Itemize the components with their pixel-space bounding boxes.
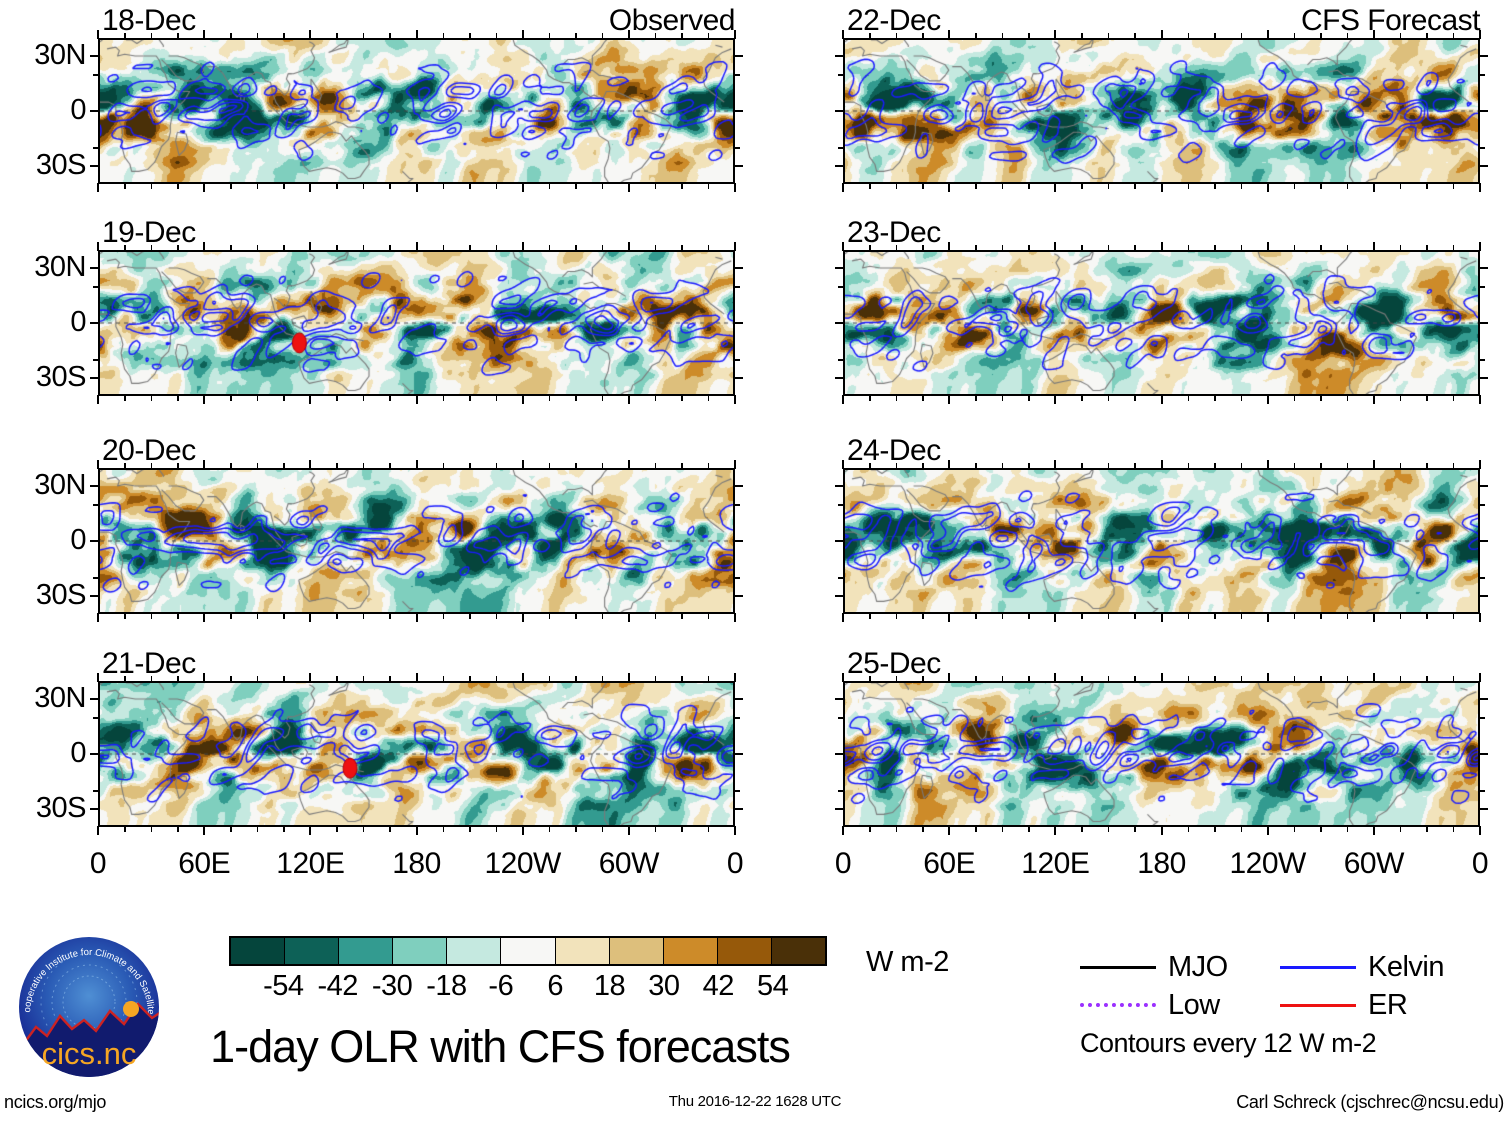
x-tick-minor [336, 33, 338, 39]
x-tick-minor [151, 826, 153, 832]
x-tick-minor [1294, 463, 1296, 469]
x-tick-minor [1294, 826, 1296, 832]
x-tick-minor [896, 33, 898, 39]
x-tick-minor [124, 613, 126, 619]
x-axis-label-0: 0 [783, 849, 903, 879]
x-tick-minor [1241, 613, 1243, 619]
x-tick-minor [549, 33, 551, 39]
panel-date-label: 20-Dec [102, 436, 196, 466]
colorbar-swatch-9 [718, 938, 772, 964]
x-tick-minor [602, 245, 604, 251]
x-tick-major [416, 30, 418, 39]
x-tick-minor [230, 245, 232, 251]
x-tick-major [416, 673, 418, 682]
x-tick-major [203, 242, 205, 251]
y-tick-minor [1479, 359, 1485, 361]
x-tick-minor [1108, 33, 1110, 39]
x-tick-major [1373, 673, 1375, 682]
x-tick-major [1479, 30, 1481, 39]
x-tick-major [1054, 395, 1056, 404]
x-tick-minor [1188, 245, 1190, 251]
x-tick-major [1161, 613, 1163, 622]
x-tick-minor [1453, 613, 1455, 619]
y-tick-major [835, 485, 844, 487]
x-tick-minor [283, 613, 285, 619]
x-tick-major [734, 826, 736, 835]
y-tick-major [1479, 377, 1488, 379]
colorbar-swatch-6 [556, 938, 610, 964]
x-tick-minor [496, 33, 498, 39]
colorbar-swatch-7 [610, 938, 664, 964]
x-tick-minor [1214, 183, 1216, 189]
y-tick-major [1479, 540, 1488, 542]
y-tick-major [90, 808, 99, 810]
map-canvas-19-dec [98, 250, 735, 396]
x-tick-minor [389, 245, 391, 251]
x-tick-minor [1241, 463, 1243, 469]
colorbar-swatch-2 [339, 938, 393, 964]
x-tick-minor [922, 463, 924, 469]
x-tick-minor [389, 463, 391, 469]
x-tick-minor [1134, 826, 1136, 832]
x-tick-minor [1400, 33, 1402, 39]
x-tick-major [734, 395, 736, 404]
x-tick-minor [1426, 183, 1428, 189]
x-tick-minor [443, 183, 445, 189]
x-tick-minor [681, 613, 683, 619]
x-tick-minor [922, 826, 924, 832]
x-tick-major [1161, 30, 1163, 39]
x-tick-major [97, 395, 99, 404]
y-tick-minor [734, 577, 740, 579]
x-axis-label-120w: 120W [463, 849, 583, 879]
x-tick-minor [869, 183, 871, 189]
x-tick-minor [549, 826, 551, 832]
x-tick-major [842, 613, 844, 622]
y-tick-major [1479, 110, 1488, 112]
x-tick-major [628, 673, 630, 682]
x-tick-minor [1108, 826, 1110, 832]
x-tick-major [734, 30, 736, 39]
y-tick-minor [734, 74, 740, 76]
x-tick-major [734, 460, 736, 469]
x-tick-minor [655, 245, 657, 251]
x-tick-minor [655, 613, 657, 619]
x-tick-major [1054, 613, 1056, 622]
x-tick-minor [869, 463, 871, 469]
x-tick-minor [1081, 613, 1083, 619]
x-tick-minor [1214, 395, 1216, 401]
x-tick-minor [655, 395, 657, 401]
x-tick-major [1054, 460, 1056, 469]
y-axis-label-30n: 30N [0, 41, 86, 70]
x-tick-major [1267, 673, 1269, 682]
x-tick-minor [602, 676, 604, 682]
map-canvas-25-dec [843, 681, 1480, 827]
cics-nc-logo: Cooperative Institute for Climate and Sa… [14, 932, 164, 1082]
y-tick-major [90, 377, 99, 379]
x-axis-label-60e: 60E [889, 849, 1009, 879]
x-tick-minor [124, 826, 126, 832]
x-tick-minor [869, 826, 871, 832]
x-tick-minor [336, 463, 338, 469]
x-tick-major [97, 613, 99, 622]
x-tick-minor [1108, 245, 1110, 251]
x-tick-minor [151, 33, 153, 39]
legend-swatch-kelvin [1280, 966, 1356, 969]
x-tick-major [734, 183, 736, 192]
legend-label-mjo: MJO [1168, 953, 1228, 982]
x-tick-major [948, 613, 950, 622]
x-tick-minor [575, 395, 577, 401]
x-tick-minor [602, 613, 604, 619]
legend-label-kelvin: Kelvin [1368, 953, 1444, 982]
colorbar-swatch-0 [231, 938, 285, 964]
x-tick-minor [681, 183, 683, 189]
y-tick-minor [1479, 74, 1485, 76]
x-tick-minor [1002, 395, 1004, 401]
y-tick-major [835, 595, 844, 597]
x-tick-minor [575, 33, 577, 39]
x-tick-minor [1294, 33, 1296, 39]
x-tick-minor [363, 463, 365, 469]
x-tick-major [734, 242, 736, 251]
x-tick-minor [1320, 395, 1322, 401]
x-tick-minor [1028, 245, 1030, 251]
x-tick-major [1479, 673, 1481, 682]
x-tick-major [1267, 30, 1269, 39]
x-tick-minor [336, 613, 338, 619]
x-tick-major [203, 460, 205, 469]
x-tick-minor [1347, 613, 1349, 619]
x-tick-major [1054, 242, 1056, 251]
x-tick-major [734, 613, 736, 622]
footer-author: Carl Schreck (cjschrec@ncsu.edu) [1236, 1092, 1504, 1112]
x-tick-minor [336, 183, 338, 189]
y-tick-major [1479, 267, 1488, 269]
y-tick-major [835, 267, 844, 269]
y-axis-label-30s: 30S [0, 794, 86, 823]
x-tick-minor [151, 613, 153, 619]
x-tick-major [628, 242, 630, 251]
y-tick-minor [93, 717, 99, 719]
x-tick-major [1267, 242, 1269, 251]
y-tick-major [734, 165, 743, 167]
x-tick-major [948, 395, 950, 404]
x-tick-minor [389, 613, 391, 619]
x-tick-minor [1294, 245, 1296, 251]
x-tick-minor [975, 33, 977, 39]
x-tick-minor [230, 33, 232, 39]
y-tick-minor [93, 577, 99, 579]
x-tick-minor [1426, 463, 1428, 469]
y-tick-minor [93, 286, 99, 288]
y-axis-label-30s: 30S [0, 151, 86, 180]
x-tick-minor [389, 33, 391, 39]
x-tick-minor [575, 676, 577, 682]
x-tick-minor [1347, 33, 1349, 39]
svg-text:cics.nc: cics.nc [42, 1036, 137, 1071]
x-tick-major [1373, 395, 1375, 404]
x-tick-minor [363, 676, 365, 682]
colorbar [229, 936, 827, 966]
x-tick-minor [975, 676, 977, 682]
x-tick-minor [655, 463, 657, 469]
x-tick-major [628, 826, 630, 835]
y-tick-major [90, 55, 99, 57]
x-tick-minor [1028, 33, 1030, 39]
x-tick-minor [1028, 826, 1030, 832]
x-tick-minor [602, 33, 604, 39]
x-tick-minor [124, 395, 126, 401]
x-tick-minor [1028, 613, 1030, 619]
x-axis-label-180: 180 [1102, 849, 1222, 879]
x-tick-minor [1108, 395, 1110, 401]
x-axis-label-0: 0 [675, 849, 795, 879]
x-tick-major [948, 460, 950, 469]
map-canvas-23-dec [843, 250, 1480, 396]
x-tick-minor [283, 463, 285, 469]
colorbar-swatch-5 [501, 938, 555, 964]
x-tick-minor [1081, 395, 1083, 401]
y-tick-major [1479, 322, 1488, 324]
x-tick-major [522, 826, 524, 835]
y-tick-minor [838, 359, 844, 361]
colorbar-swatch-10 [772, 938, 825, 964]
x-tick-major [522, 242, 524, 251]
x-tick-minor [124, 463, 126, 469]
x-tick-minor [257, 395, 259, 401]
x-tick-minor [1241, 183, 1243, 189]
x-axis-label-0: 0 [38, 849, 158, 879]
y-tick-major [835, 808, 844, 810]
x-tick-major [842, 460, 844, 469]
y-tick-minor [838, 577, 844, 579]
x-tick-minor [975, 613, 977, 619]
x-tick-major [203, 826, 205, 835]
x-tick-major [842, 30, 844, 39]
x-tick-major [628, 30, 630, 39]
x-tick-minor [1134, 463, 1136, 469]
x-tick-minor [230, 395, 232, 401]
x-tick-minor [1081, 826, 1083, 832]
x-tick-major [1054, 673, 1056, 682]
x-tick-minor [681, 463, 683, 469]
panel-date-label: 19-Dec [102, 218, 196, 248]
x-tick-minor [975, 395, 977, 401]
y-tick-minor [1479, 147, 1485, 149]
y-tick-minor [93, 504, 99, 506]
x-tick-minor [1347, 183, 1349, 189]
legend-item-kelvin: Kelvin [1280, 953, 1480, 982]
x-tick-minor [469, 183, 471, 189]
x-tick-major [1479, 395, 1481, 404]
x-axis-label-120e: 120E [250, 849, 370, 879]
x-tick-minor [230, 613, 232, 619]
x-tick-major [628, 613, 630, 622]
y-axis-label-30n: 30N [0, 471, 86, 500]
x-tick-minor [1188, 395, 1190, 401]
y-tick-major [90, 753, 99, 755]
y-tick-major [734, 110, 743, 112]
x-tick-major [416, 242, 418, 251]
x-tick-minor [1188, 826, 1190, 832]
x-tick-minor [1028, 676, 1030, 682]
y-tick-major [90, 595, 99, 597]
x-tick-minor [975, 463, 977, 469]
x-tick-major [842, 183, 844, 192]
x-axis-label-180: 180 [357, 849, 477, 879]
x-tick-major [522, 30, 524, 39]
x-tick-minor [1081, 463, 1083, 469]
x-tick-major [97, 30, 99, 39]
x-tick-minor [257, 33, 259, 39]
x-tick-minor [1453, 826, 1455, 832]
y-tick-minor [93, 74, 99, 76]
x-tick-major [1161, 826, 1163, 835]
y-tick-major [835, 377, 844, 379]
x-tick-minor [869, 613, 871, 619]
x-tick-minor [681, 245, 683, 251]
x-tick-minor [443, 826, 445, 832]
x-tick-minor [1400, 613, 1402, 619]
y-tick-major [734, 485, 743, 487]
x-tick-minor [443, 463, 445, 469]
x-tick-major [1267, 613, 1269, 622]
x-tick-major [416, 460, 418, 469]
x-tick-major [1479, 826, 1481, 835]
map-canvas-18-dec [98, 38, 735, 184]
x-tick-minor [975, 826, 977, 832]
x-tick-minor [1188, 613, 1190, 619]
x-tick-minor [336, 245, 338, 251]
x-tick-minor [1002, 183, 1004, 189]
x-tick-minor [1188, 33, 1190, 39]
x-tick-minor [549, 183, 551, 189]
x-tick-major [309, 826, 311, 835]
y-tick-minor [1479, 717, 1485, 719]
x-tick-minor [177, 183, 179, 189]
x-tick-minor [1426, 245, 1428, 251]
y-axis-label-0: 0 [0, 308, 86, 337]
x-tick-minor [443, 33, 445, 39]
x-tick-minor [1081, 676, 1083, 682]
x-tick-minor [975, 183, 977, 189]
x-tick-major [309, 183, 311, 192]
x-tick-major [1479, 613, 1481, 622]
y-tick-major [835, 540, 844, 542]
x-tick-major [97, 826, 99, 835]
x-tick-minor [1400, 245, 1402, 251]
x-tick-major [309, 460, 311, 469]
x-tick-minor [1002, 463, 1004, 469]
x-tick-minor [896, 183, 898, 189]
x-tick-minor [151, 395, 153, 401]
x-tick-minor [257, 826, 259, 832]
x-tick-minor [177, 33, 179, 39]
x-tick-major [1267, 183, 1269, 192]
x-tick-minor [708, 245, 710, 251]
x-tick-minor [602, 395, 604, 401]
x-tick-major [1267, 460, 1269, 469]
colorbar-tick-54: 54 [733, 972, 813, 1001]
x-tick-minor [1134, 183, 1136, 189]
x-tick-major [1267, 826, 1269, 835]
legend-item-low: Low [1080, 991, 1280, 1020]
x-tick-minor [708, 183, 710, 189]
x-tick-minor [1188, 676, 1190, 682]
x-tick-minor [1028, 395, 1030, 401]
x-tick-major [97, 242, 99, 251]
legend-swatch-mjo [1080, 966, 1156, 969]
x-tick-major [309, 673, 311, 682]
x-axis-label-60w: 60W [1314, 849, 1434, 879]
x-tick-minor [124, 676, 126, 682]
x-tick-minor [363, 33, 365, 39]
x-tick-minor [1214, 463, 1216, 469]
map-canvas-22-dec [843, 38, 1480, 184]
x-tick-minor [1241, 33, 1243, 39]
x-tick-major [522, 673, 524, 682]
x-tick-minor [1347, 826, 1349, 832]
x-tick-minor [336, 676, 338, 682]
x-tick-minor [1134, 613, 1136, 619]
panel-date-label: 23-Dec [847, 218, 941, 248]
y-tick-major [1479, 485, 1488, 487]
x-tick-minor [257, 613, 259, 619]
x-tick-minor [363, 245, 365, 251]
x-tick-major [203, 613, 205, 622]
x-tick-minor [1188, 183, 1190, 189]
x-tick-minor [151, 676, 153, 682]
x-tick-minor [869, 33, 871, 39]
x-tick-minor [496, 245, 498, 251]
x-tick-minor [443, 395, 445, 401]
x-tick-minor [283, 395, 285, 401]
y-tick-minor [838, 147, 844, 149]
x-tick-minor [655, 676, 657, 682]
y-axis-label-30s: 30S [0, 363, 86, 392]
y-tick-major [1479, 165, 1488, 167]
x-tick-minor [602, 183, 604, 189]
x-tick-minor [151, 183, 153, 189]
y-tick-major [734, 595, 743, 597]
y-tick-major [734, 377, 743, 379]
y-tick-minor [734, 717, 740, 719]
x-tick-minor [124, 33, 126, 39]
y-tick-major [90, 485, 99, 487]
x-tick-major [309, 613, 311, 622]
x-tick-major [1267, 395, 1269, 404]
y-tick-major [90, 110, 99, 112]
x-tick-major [203, 395, 205, 404]
x-tick-major [97, 183, 99, 192]
x-tick-minor [177, 463, 179, 469]
x-tick-major [416, 826, 418, 835]
y-tick-major [835, 165, 844, 167]
y-tick-major [90, 540, 99, 542]
x-tick-minor [230, 676, 232, 682]
x-tick-minor [896, 395, 898, 401]
legend-swatch-low [1080, 1003, 1156, 1007]
x-tick-minor [896, 245, 898, 251]
x-tick-minor [496, 613, 498, 619]
x-tick-major [1479, 460, 1481, 469]
x-tick-minor [549, 245, 551, 251]
x-tick-minor [1426, 395, 1428, 401]
x-tick-minor [1134, 676, 1136, 682]
x-tick-minor [1400, 676, 1402, 682]
